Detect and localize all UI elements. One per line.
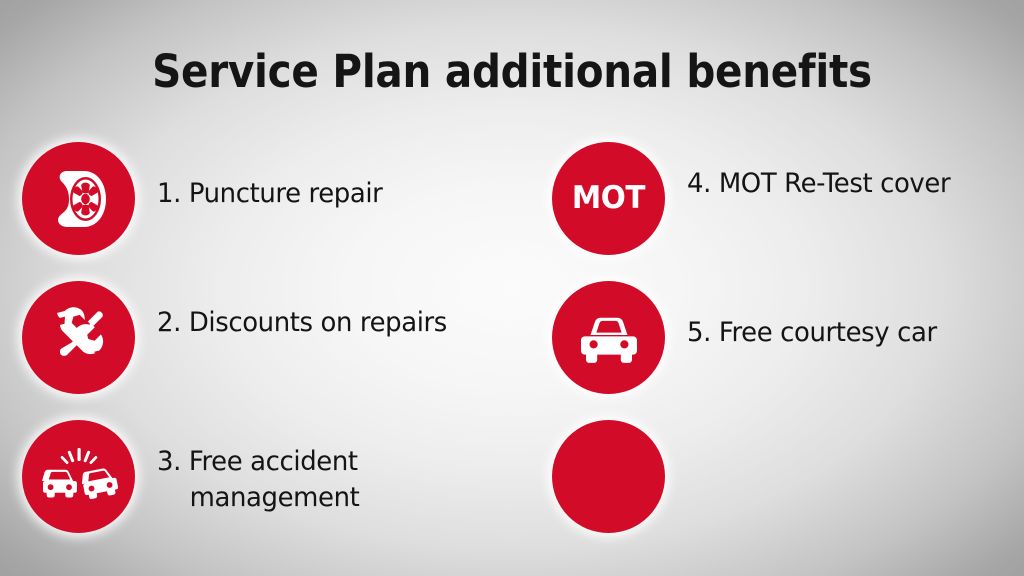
benefit-item-free-accident-management[interactable]: 3. Free accident management <box>22 420 492 559</box>
car-collision-icon <box>38 447 120 507</box>
right-column: MOT 4. MOT Re-Test cover <box>552 142 1022 559</box>
benefit-label <box>687 420 1009 454</box>
mot-text-icon: MOT <box>572 183 645 214</box>
benefit-label: 4. MOT Re-Test cover <box>687 142 1009 202</box>
badge-discounts-on-repairs[interactable] <box>22 281 135 394</box>
badge-mot-re-test-cover[interactable]: MOT <box>552 142 665 255</box>
wrench-screwdriver-icon <box>45 304 113 372</box>
badge-puncture-repair[interactable] <box>22 142 135 255</box>
left-column: 1. Puncture repair <box>22 142 492 559</box>
slide-canvas: Service Plan additional benefits <box>0 0 1024 576</box>
car-front-icon <box>576 312 642 364</box>
badge-empty[interactable] <box>552 420 665 533</box>
page-title: Service Plan additional benefits <box>51 44 973 100</box>
flat-tire-icon <box>44 164 114 234</box>
benefit-item-mot-re-test-cover[interactable]: MOT 4. MOT Re-Test cover <box>552 142 1022 281</box>
benefit-label: 1. Puncture repair <box>157 142 479 212</box>
benefit-item-empty[interactable] <box>552 420 1022 559</box>
benefit-label: 3. Free accident management <box>157 420 479 516</box>
benefit-label: 5. Free courtesy car <box>687 281 1009 351</box>
benefit-item-discounts-on-repairs[interactable]: 2. Discounts on repairs <box>22 281 492 420</box>
badge-free-courtesy-car[interactable] <box>552 281 665 394</box>
benefit-item-free-courtesy-car[interactable]: 5. Free courtesy car <box>552 281 1022 420</box>
benefit-label: 2. Discounts on repairs <box>157 281 479 341</box>
benefit-item-puncture-repair[interactable]: 1. Puncture repair <box>22 142 492 281</box>
badge-free-accident-management[interactable] <box>22 420 135 533</box>
